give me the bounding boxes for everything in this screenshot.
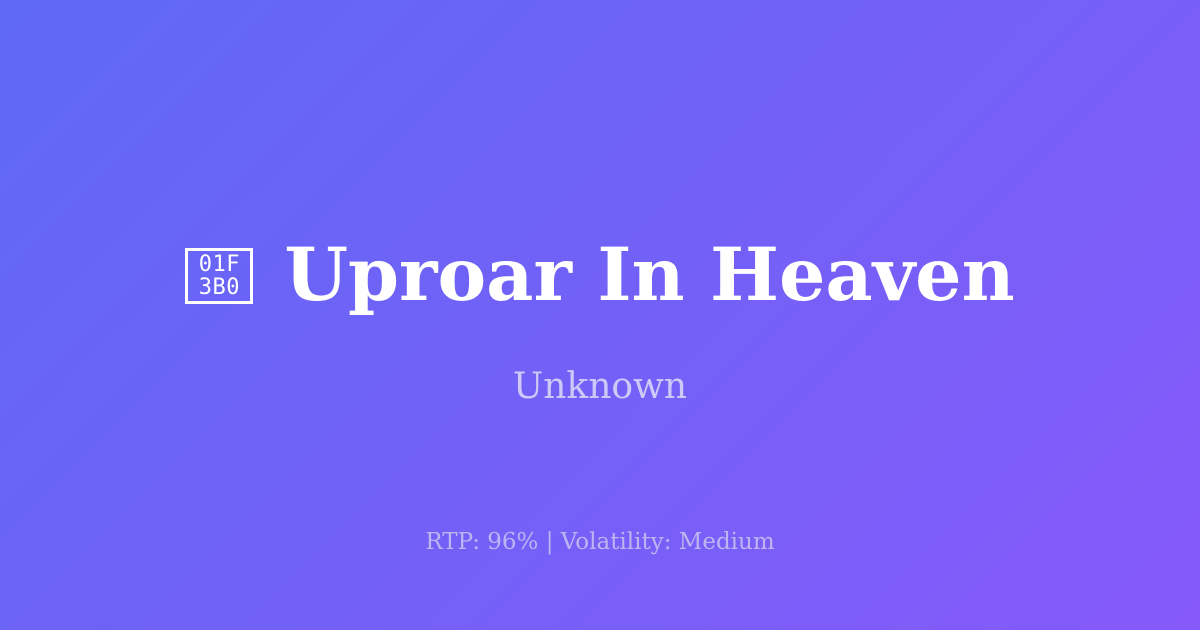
tofu-codepoint-bottom: 3B0: [199, 276, 240, 299]
game-provider-label: Unknown: [0, 365, 1200, 409]
tofu-codepoint-top: 01F: [199, 253, 240, 276]
game-stats-line: RTP: 96% | Volatility: Medium: [0, 527, 1200, 557]
slot-machine-icon: 01F 3B0: [185, 248, 253, 304]
game-preview-card: 01F 3B0 Uproar In Heaven Unknown RTP: 96…: [0, 0, 1200, 630]
page-title: Uproar In Heaven: [284, 232, 1014, 318]
title-row: 01F 3B0 Uproar In Heaven: [0, 232, 1200, 318]
